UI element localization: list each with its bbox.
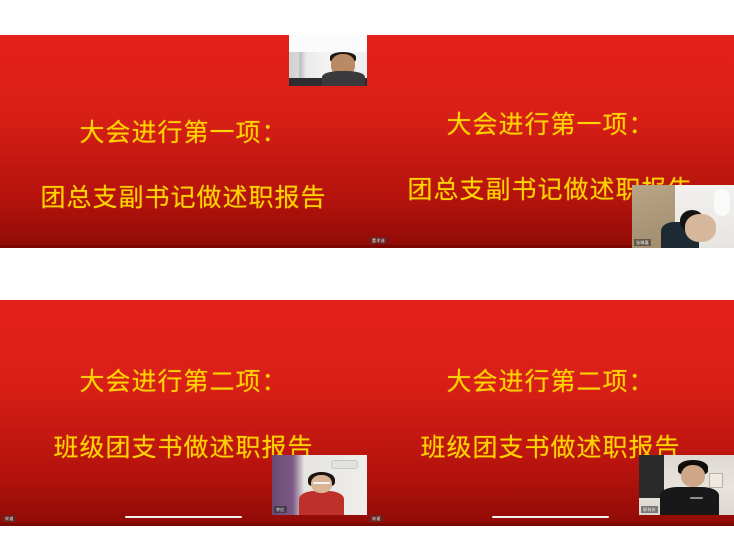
slide-headline-2: 大会进行第一项： bbox=[367, 105, 734, 141]
video-progress-bar-4[interactable] bbox=[492, 516, 609, 518]
slide-headline-4: 大会进行第二项： bbox=[367, 362, 734, 398]
pillow-shape bbox=[714, 189, 730, 217]
participant-name-badge-2: 张琳嘉 bbox=[634, 239, 651, 246]
video-panel-1[interactable]: 大会进行第一项： 团总支副书记做述职报告 bbox=[0, 0, 367, 276]
person-head bbox=[681, 465, 706, 488]
person-torso bbox=[322, 71, 366, 86]
video-panel-2[interactable]: 大会进行第一项： 团总支副书记做述职报告 董术迪 张琳嘉 bbox=[367, 0, 734, 276]
video-progress-bar-3[interactable] bbox=[125, 516, 242, 518]
webcam-thumbnail-2[interactable]: 张琳嘉 bbox=[632, 185, 734, 248]
webcam-scene-1 bbox=[289, 35, 367, 86]
person-torso bbox=[660, 487, 719, 515]
webcam-thumbnail-1[interactable] bbox=[289, 35, 367, 86]
wall-band-icon bbox=[289, 35, 367, 52]
video-panel-4[interactable]: 大会进行第二项： 班级团支书做述职报告 宋道 郭林庆 bbox=[367, 276, 734, 551]
screenshot-canvas: 大会进行第一项： 团总支副书记做述职报告 大会进行第一项： 团总支副书记做述职报… bbox=[0, 0, 734, 551]
picture-frame-icon bbox=[709, 473, 722, 488]
active-speaker-badge-4: 宋道 bbox=[370, 515, 383, 522]
person-torso bbox=[299, 491, 345, 515]
webcam-thumbnail-4[interactable]: 郭林庆 bbox=[639, 455, 734, 515]
active-speaker-badge-3: 宋道 bbox=[3, 515, 16, 522]
participant-name-badge-4: 郭林庆 bbox=[641, 506, 658, 513]
slide-headline-3: 大会进行第二项： bbox=[0, 362, 367, 398]
air-conditioner-icon bbox=[331, 460, 358, 469]
webcam-thumbnail-3[interactable]: 李红 bbox=[272, 455, 367, 515]
video-panel-3[interactable]: 大会进行第二项： 班级团支书做述职报告 宋道 李红 bbox=[0, 276, 367, 551]
slide-subhead-1: 团总支副书记做述职报告 bbox=[0, 178, 367, 214]
person-head bbox=[311, 475, 332, 493]
participant-name-badge-3: 李红 bbox=[274, 506, 287, 513]
person-head bbox=[685, 214, 716, 242]
active-speaker-badge-2: 董术迪 bbox=[370, 237, 387, 244]
slide-headline-1: 大会进行第一项： bbox=[0, 113, 367, 149]
